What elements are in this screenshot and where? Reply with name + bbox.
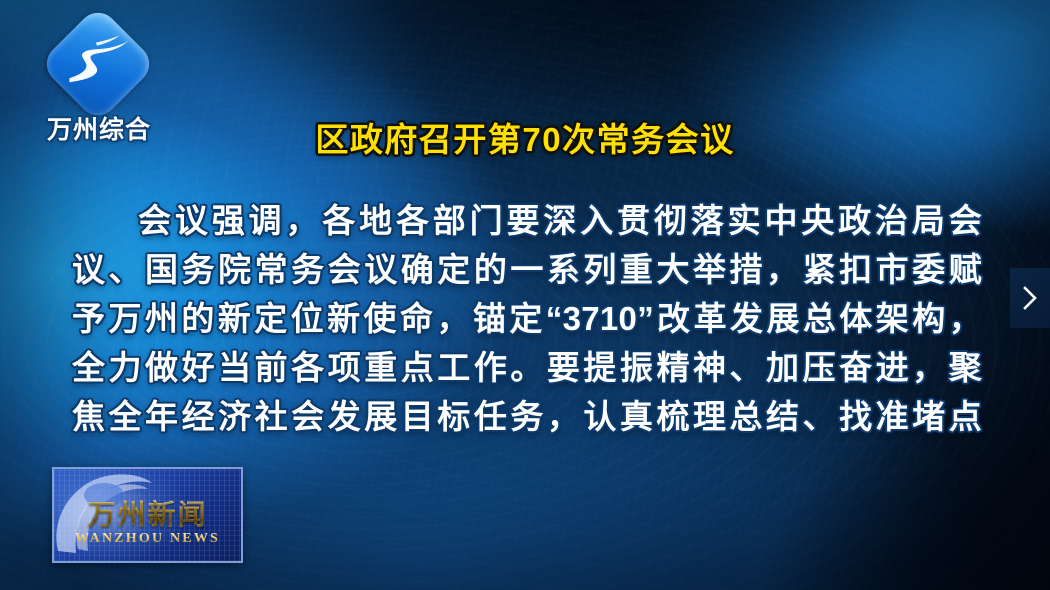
body-text: 会议强调，各地各部门要深入贯彻落实中央政治局会 议、国务院常务会议确定的一系列重…	[72, 196, 982, 441]
body-line: 会议强调，各地各部门要深入贯彻落实中央政治局会	[72, 196, 982, 245]
program-title-cn: 万州新闻	[54, 493, 241, 533]
broadcast-slide: 万州综合 区政府召开第70次常务会议 会议强调，各地各部门要深入贯彻落实中央政治…	[0, 0, 1050, 590]
page-title: 区政府召开第70次常务会议	[0, 113, 1050, 161]
chevron-right-icon	[1022, 285, 1038, 311]
body-line: 予万州的新定位新使命，锚定“3710”改革发展总体架构，	[72, 294, 982, 343]
body-line: 全力做好当前各项重点工作。要提振精神、加压奋进，聚	[72, 343, 982, 392]
program-watermark: 万州新闻 WANZHOU NEWS	[52, 467, 243, 563]
body-line: 焦全年经济社会发展目标任务，认真梳理总结、找准堵点	[72, 392, 982, 441]
next-slide-button[interactable]	[1010, 268, 1050, 328]
river-shape-icon	[55, 21, 141, 107]
program-title-en: WANZHOU NEWS	[54, 531, 241, 547]
body-line: 议、国务院常务会议确定的一系列重大举措，紧扣市委赋	[72, 245, 982, 294]
river-diamond-logo-icon	[39, 5, 158, 124]
